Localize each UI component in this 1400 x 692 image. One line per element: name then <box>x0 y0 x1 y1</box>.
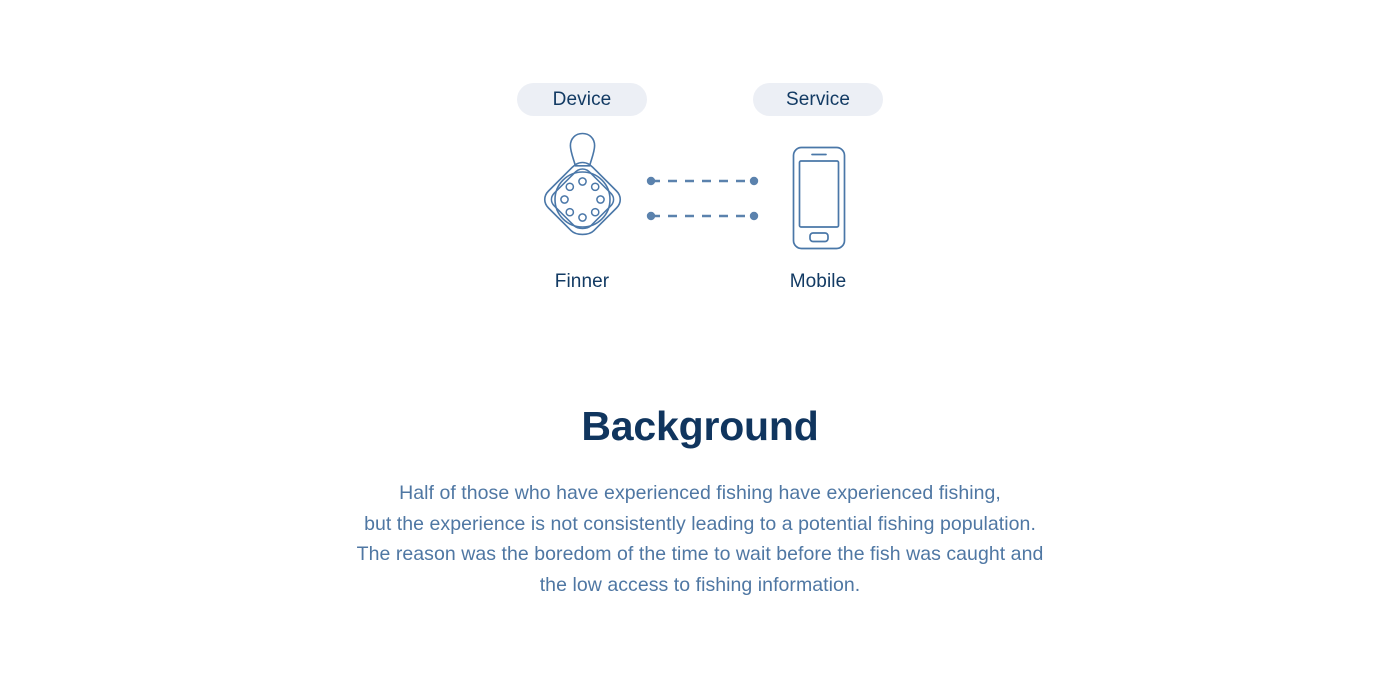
dial-circle <box>555 172 610 227</box>
led-dot <box>597 196 604 203</box>
background-paragraph: Half of those who have experienced fishi… <box>0 478 1400 600</box>
paragraph-line: the low access to fishing information. <box>0 570 1400 601</box>
connector-upper-dot-left <box>647 177 655 185</box>
paragraph-line: Half of those who have experienced fishi… <box>0 478 1400 509</box>
pill-device[interactable]: Device <box>517 83 647 116</box>
connector-lower-dot-left <box>647 212 655 220</box>
led-dot <box>579 214 586 221</box>
system-diagram: Device Service <box>0 0 1400 310</box>
phone-home-button[interactable] <box>810 233 828 242</box>
phone-screen <box>800 161 839 227</box>
led-dot <box>579 178 586 185</box>
led-dot <box>561 196 568 203</box>
paragraph-line: The reason was the boredom of the time t… <box>0 539 1400 570</box>
page-root: Device Service <box>0 0 1400 692</box>
led-dot <box>592 183 599 190</box>
connector-svg <box>640 165 765 225</box>
finner-tracker-svg <box>533 126 633 261</box>
paragraph-line: but the experience is not consistently l… <box>0 509 1400 540</box>
finner-tracker-icon <box>533 126 633 266</box>
led-dot <box>566 209 573 216</box>
handle-outline <box>570 134 594 166</box>
background-section: Background Half of those who have experi… <box>0 400 1400 600</box>
connector-group <box>640 165 765 230</box>
body-outer-outline <box>545 163 621 235</box>
mobile-phone-icon <box>789 142 849 259</box>
mobile-phone-svg <box>789 142 849 254</box>
caption-mobile: Mobile <box>718 271 918 293</box>
led-dot <box>566 183 573 190</box>
connector-upper-dot-right <box>750 177 758 185</box>
connector-lower-dot-right <box>750 212 758 220</box>
page-title: Background <box>0 400 1400 452</box>
pill-service[interactable]: Service <box>753 83 883 116</box>
led-dot <box>592 209 599 216</box>
caption-finner: Finner <box>482 271 682 293</box>
